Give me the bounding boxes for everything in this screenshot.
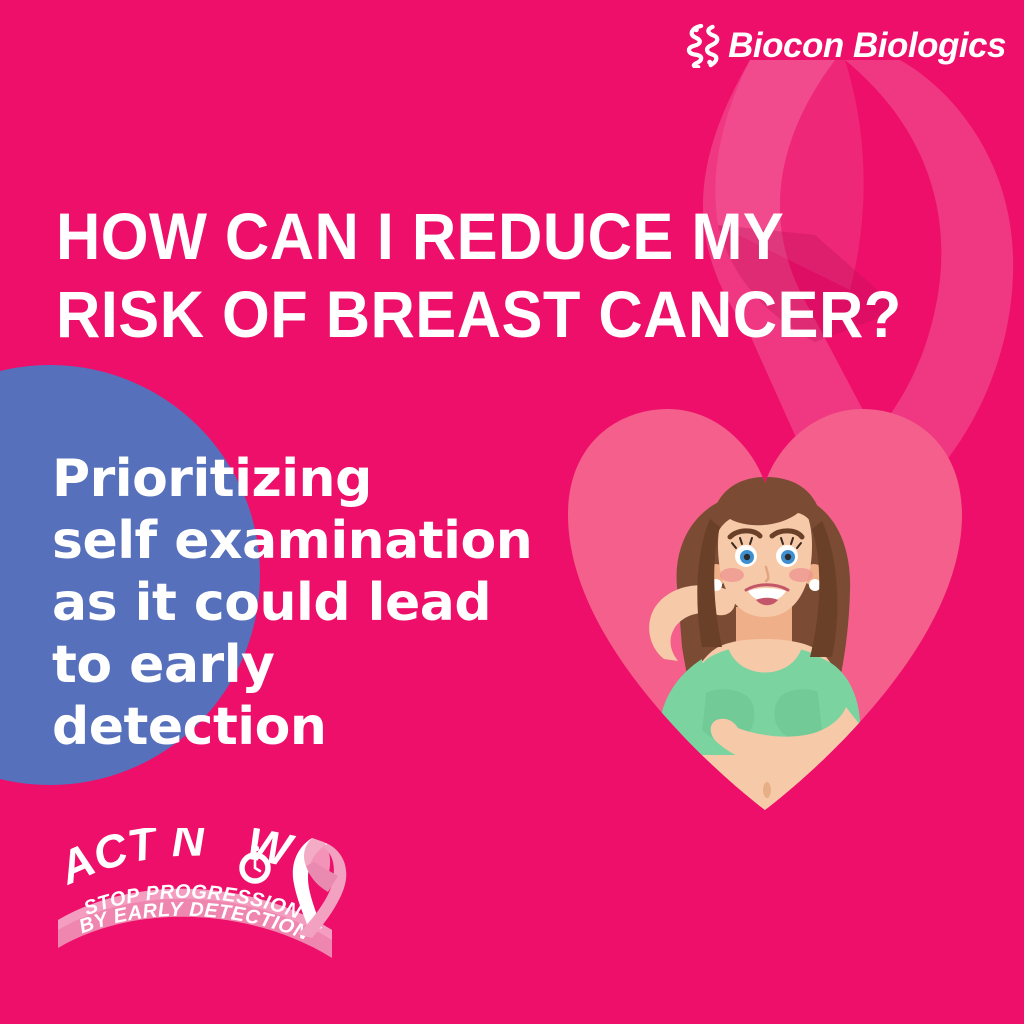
act-now-badge[interactable]: ACT N W STOP PROGRESSION: [56, 828, 366, 963]
body-line-5: detection: [52, 696, 532, 758]
body-copy: Prioritizing self examination as it coul…: [52, 448, 532, 758]
page-title: HOW CAN I REDUCE MY RISK OF BREAST CANCE…: [56, 197, 828, 353]
body-line-3: as it could lead: [52, 572, 532, 634]
body-line-1: Prioritizing: [52, 448, 532, 510]
body-line-4: to early: [52, 634, 532, 696]
headline-line-1: HOW CAN I REDUCE MY: [56, 197, 828, 275]
badge-title-n: N: [171, 828, 206, 866]
badge-banner-text: STOP PROGRESSION BY EARLY DETECTION: [76, 881, 312, 945]
breast-cancer-awareness-poster: Biocon Biologics HOW CAN I REDUCE MY RIS…: [0, 0, 1024, 1024]
brand-name: Biocon Biologics: [728, 26, 1006, 66]
hero-illustration: [560, 395, 970, 820]
biocon-helix-mark-icon: [684, 24, 722, 68]
svg-text:N: N: [171, 828, 206, 866]
body-line-2: self examination: [52, 510, 532, 572]
headline-line-2: RISK OF BREAST CANCER?: [56, 275, 828, 353]
brand-logo[interactable]: Biocon Biologics: [684, 24, 1006, 68]
